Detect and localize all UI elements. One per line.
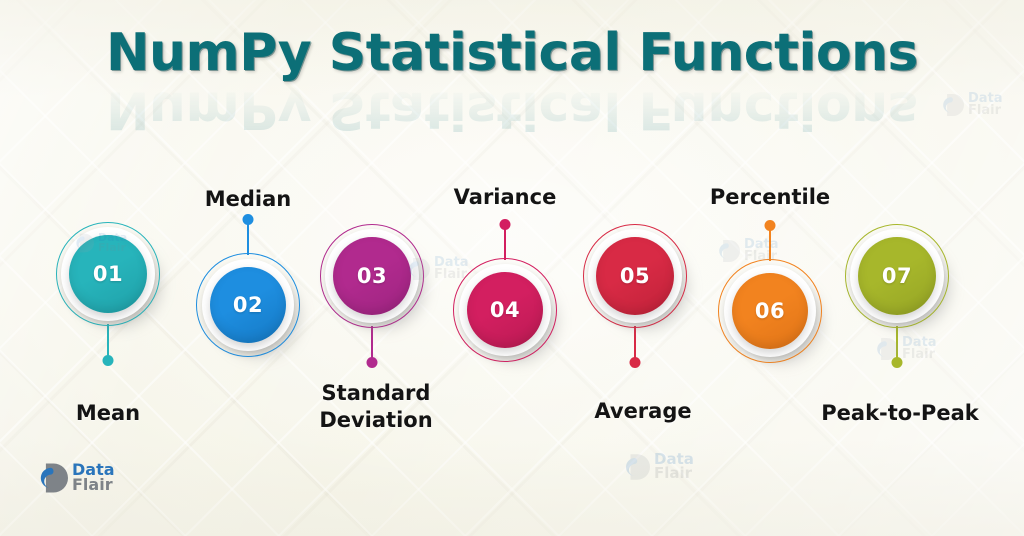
dataflair-watermark-top-right: Data Flair [938,92,1003,118]
page-title: NumPy Statistical Functions [0,26,1024,81]
stat-label-05: Average [513,398,773,425]
dataflair-wordmark: Data Flair [902,337,937,361]
connector-dot [500,219,511,230]
dataflair-wordmark: Data Flair [434,257,469,281]
connector-line [107,324,109,358]
node-number-badge-02[interactable]: 02 [210,267,286,343]
stat-node-07[interactable]: 07 [845,224,949,328]
dataflair-wordmark: Data Flair [72,463,115,492]
node-number-text: 07 [882,264,912,288]
connector-line [371,326,373,360]
node-number-badge-03[interactable]: 03 [333,237,411,315]
connector-dot [630,357,641,368]
stat-node-05[interactable]: 05 [583,224,687,328]
connector-01 [98,324,118,370]
dataflair-logo-icon [938,92,964,118]
dataflair-word-flair: Flair [434,269,469,281]
dataflair-logo-icon [620,452,650,482]
connector-05 [625,326,645,372]
dataflair-wordmark: Data Flair [654,453,694,481]
dataflair-watermark-bottom-center: Data Flair [620,452,694,482]
dataflair-word-flair: Flair [968,105,1003,117]
node-number-text: 04 [490,298,520,322]
dataflair-watermark-left: Data Flair [72,232,127,254]
stat-label-03: Standard Deviation [246,380,506,434]
dataflair-word-flair: Flair [902,349,937,361]
node-number-badge-06[interactable]: 06 [732,273,808,349]
dataflair-word-flair: Flair [654,467,694,481]
dataflair-word-flair: Flair [744,251,779,263]
dataflair-watermark-mid-right: Data Flair [714,238,779,264]
dataflair-logo-icon [34,461,68,495]
stat-label-02: Median [118,186,378,213]
node-number-text: 05 [620,264,650,288]
infographic-canvas: NumPy Statistical Functions NumPy Statis… [0,0,1024,536]
dataflair-word-flair: Flair [72,478,115,493]
stat-label-07: Peak-to-Peak [770,400,1024,427]
dataflair-logo-icon [72,232,94,254]
node-number-text: 06 [755,299,785,323]
dataflair-wordmark: Data Flair [968,93,1003,117]
stat-label-04: Variance [375,184,635,211]
connector-03 [362,326,382,372]
title-block: NumPy Statistical Functions NumPy Statis… [0,26,1024,136]
connector-dot [103,355,114,366]
dataflair-wordmark: Data Flair [98,233,127,253]
dataflair-logo[interactable]: Data Flair [34,461,115,495]
connector-line [634,326,636,360]
node-number-text: 01 [93,262,123,286]
dataflair-watermark-right: Data Flair [872,336,937,362]
connector-dot [367,357,378,368]
dataflair-watermark-mid-left: Data Flair [404,256,469,282]
stat-node-06[interactable]: 06 [718,259,822,363]
node-number-badge-07[interactable]: 07 [858,237,936,315]
stat-label-06: Percentile [640,184,900,211]
connector-dot [765,220,776,231]
stat-node-04[interactable]: 04 [453,258,557,362]
dataflair-logo-icon [872,336,898,362]
dataflair-logo-icon [714,238,740,264]
node-number-text: 03 [357,264,387,288]
connector-dot [243,214,254,225]
stat-label-01: Mean [0,400,238,427]
page-title-reflection: NumPy Statistical Functions [0,82,1024,137]
node-number-text: 02 [233,293,263,317]
node-number-badge-05[interactable]: 05 [596,237,674,315]
dataflair-logo-icon [404,256,430,282]
stat-node-02[interactable]: 02 [196,253,300,357]
dataflair-wordmark: Data Flair [744,239,779,263]
node-number-badge-04[interactable]: 04 [467,272,543,348]
dataflair-word-flair: Flair [98,243,127,253]
